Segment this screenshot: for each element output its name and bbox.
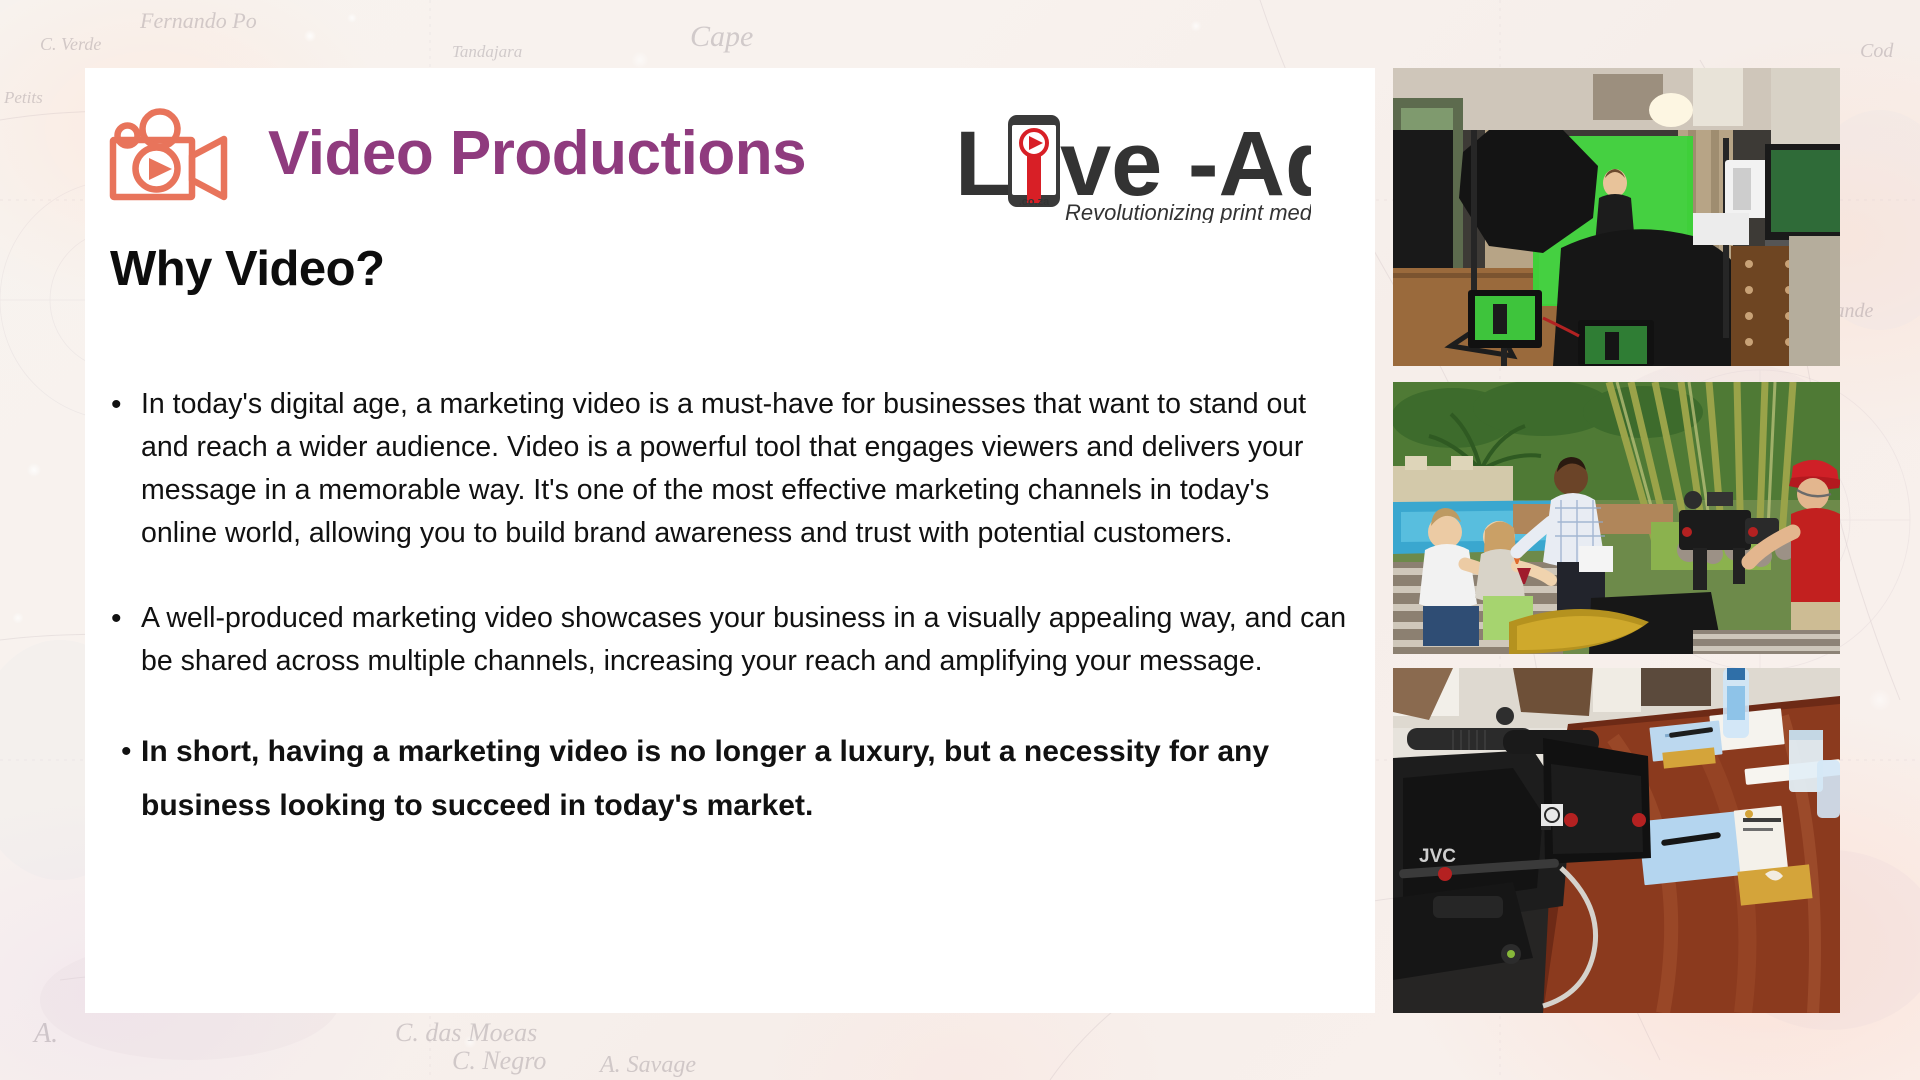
bullet-text: A well-produced marketing video showcase… <box>141 597 1347 683</box>
photo-column: JVC <box>1393 68 1840 1013</box>
photo-boardroom: JVC <box>1393 668 1840 1013</box>
video-camera-icon <box>108 108 233 203</box>
page-title: Video Productions <box>268 123 806 185</box>
photo-poolside <box>1393 382 1840 654</box>
slide-header: Video Productions L .co.za ve -Ads Revol… <box>85 68 1375 228</box>
photo-studio <box>1393 68 1840 366</box>
logo-letter-l: L <box>955 113 1011 215</box>
logo-domain-tag: .co.za <box>1019 196 1050 208</box>
bullet-text: In short, having a marketing video is no… <box>141 725 1321 833</box>
bullet-list: •In today's digital age, a marketing vid… <box>107 383 1347 833</box>
brand-logo: L .co.za ve -Ads Revolutionizing print m… <box>955 103 1311 223</box>
section-heading: Why Video? <box>110 241 385 297</box>
camera-brand-mark: JVC <box>1419 846 1456 867</box>
bullet-text: In today's digital age, a marketing vide… <box>141 383 1347 555</box>
bullet-marker: • <box>107 597 141 640</box>
logo-phone-icon: .co.za <box>1008 115 1060 208</box>
bullet-marker: • <box>107 383 141 426</box>
bullet-item: •In short, having a marketing video is n… <box>107 725 1347 833</box>
content-card: Video Productions L .co.za ve -Ads Revol… <box>85 68 1375 1013</box>
bullet-item: •In today's digital age, a marketing vid… <box>107 383 1347 555</box>
logo-tagline: Revolutionizing print media <box>1065 200 1311 223</box>
bullet-item: •A well-produced marketing video showcas… <box>107 597 1347 683</box>
bullet-marker: • <box>107 725 141 779</box>
